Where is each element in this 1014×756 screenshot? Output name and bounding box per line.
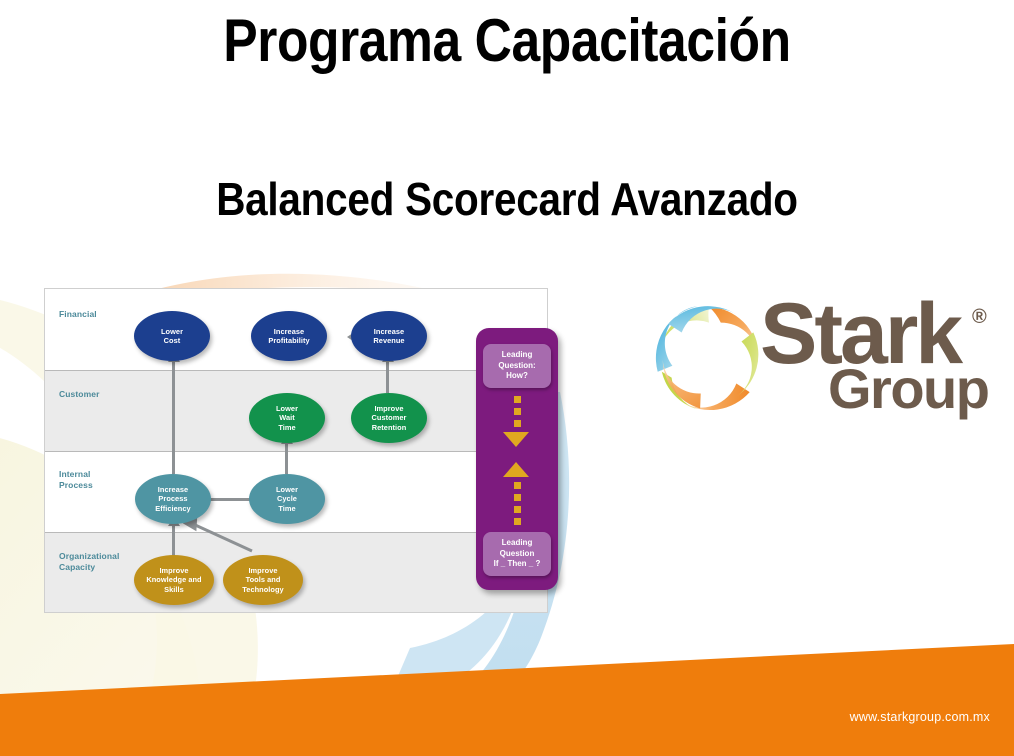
node-lower-wait-time[interactable]: LowerWaitTime — [249, 393, 325, 443]
arrow-down-icon — [503, 432, 529, 447]
node-label: ImproveTools andTechnology — [242, 566, 283, 594]
dotted-marker — [514, 494, 521, 501]
leading-question-top[interactable]: LeadingQuestion:How? — [483, 344, 551, 388]
node-label: LowerWaitTime — [276, 404, 298, 432]
logo-submark: Group — [828, 361, 988, 417]
website-url[interactable]: www.starkgroup.com.mx — [850, 710, 990, 724]
node-lower-cost[interactable]: LowerCost — [134, 311, 210, 361]
leading-question-panel: LeadingQuestion:How? LeadingQuestionIf _… — [476, 328, 558, 590]
dotted-marker — [514, 408, 521, 415]
strategy-map-diagram: Financial Customer Internal Process Orga… — [44, 288, 548, 613]
node-label: LowerCycleTime — [276, 485, 298, 513]
node-improve-tools-and-technology[interactable]: ImproveTools andTechnology — [223, 555, 303, 605]
slide-subtitle: Balanced Scorecard Avanzado — [61, 172, 953, 226]
dotted-marker — [514, 506, 521, 513]
node-improve-knowledge-and-skills[interactable]: ImproveKnowledge andSkills — [134, 555, 214, 605]
node-label: IncreaseProfitability — [268, 327, 309, 345]
node-improve-customer-retention[interactable]: ImproveCustomerRetention — [351, 393, 427, 443]
leading-question-bottom-label: LeadingQuestionIf _ Then _ ? — [494, 538, 541, 570]
leading-question-top-label: LeadingQuestion:How? — [498, 350, 535, 382]
node-label: LowerCost — [161, 327, 183, 345]
node-label: IncreaseProcessEfficiency — [155, 485, 190, 513]
node-label: IncreaseRevenue — [373, 327, 404, 345]
stark-swirl-icon — [650, 299, 768, 417]
node-label: ImproveKnowledge andSkills — [146, 566, 201, 594]
stark-group-logo: Stark ® Group — [650, 295, 1002, 430]
dotted-marker — [514, 518, 521, 525]
registered-trademark-icon: ® — [972, 307, 987, 327]
node-increase-profitability[interactable]: IncreaseProfitability — [251, 311, 327, 361]
node-increase-revenue[interactable]: IncreaseRevenue — [351, 311, 427, 361]
node-lower-cycle-time[interactable]: LowerCycleTime — [249, 474, 325, 524]
dotted-marker — [514, 482, 521, 489]
slide-canvas: Programa Capacitación Balanced Scorecard… — [0, 0, 1014, 756]
arrow-up-icon — [503, 462, 529, 477]
node-label: ImproveCustomerRetention — [372, 404, 407, 432]
dotted-marker — [514, 420, 521, 427]
leading-question-bottom[interactable]: LeadingQuestionIf _ Then _ ? — [483, 532, 551, 576]
slide-title: Programa Capacitación — [71, 6, 943, 75]
dotted-marker — [514, 396, 521, 403]
node-increase-process-efficiency[interactable]: IncreaseProcessEfficiency — [135, 474, 211, 524]
